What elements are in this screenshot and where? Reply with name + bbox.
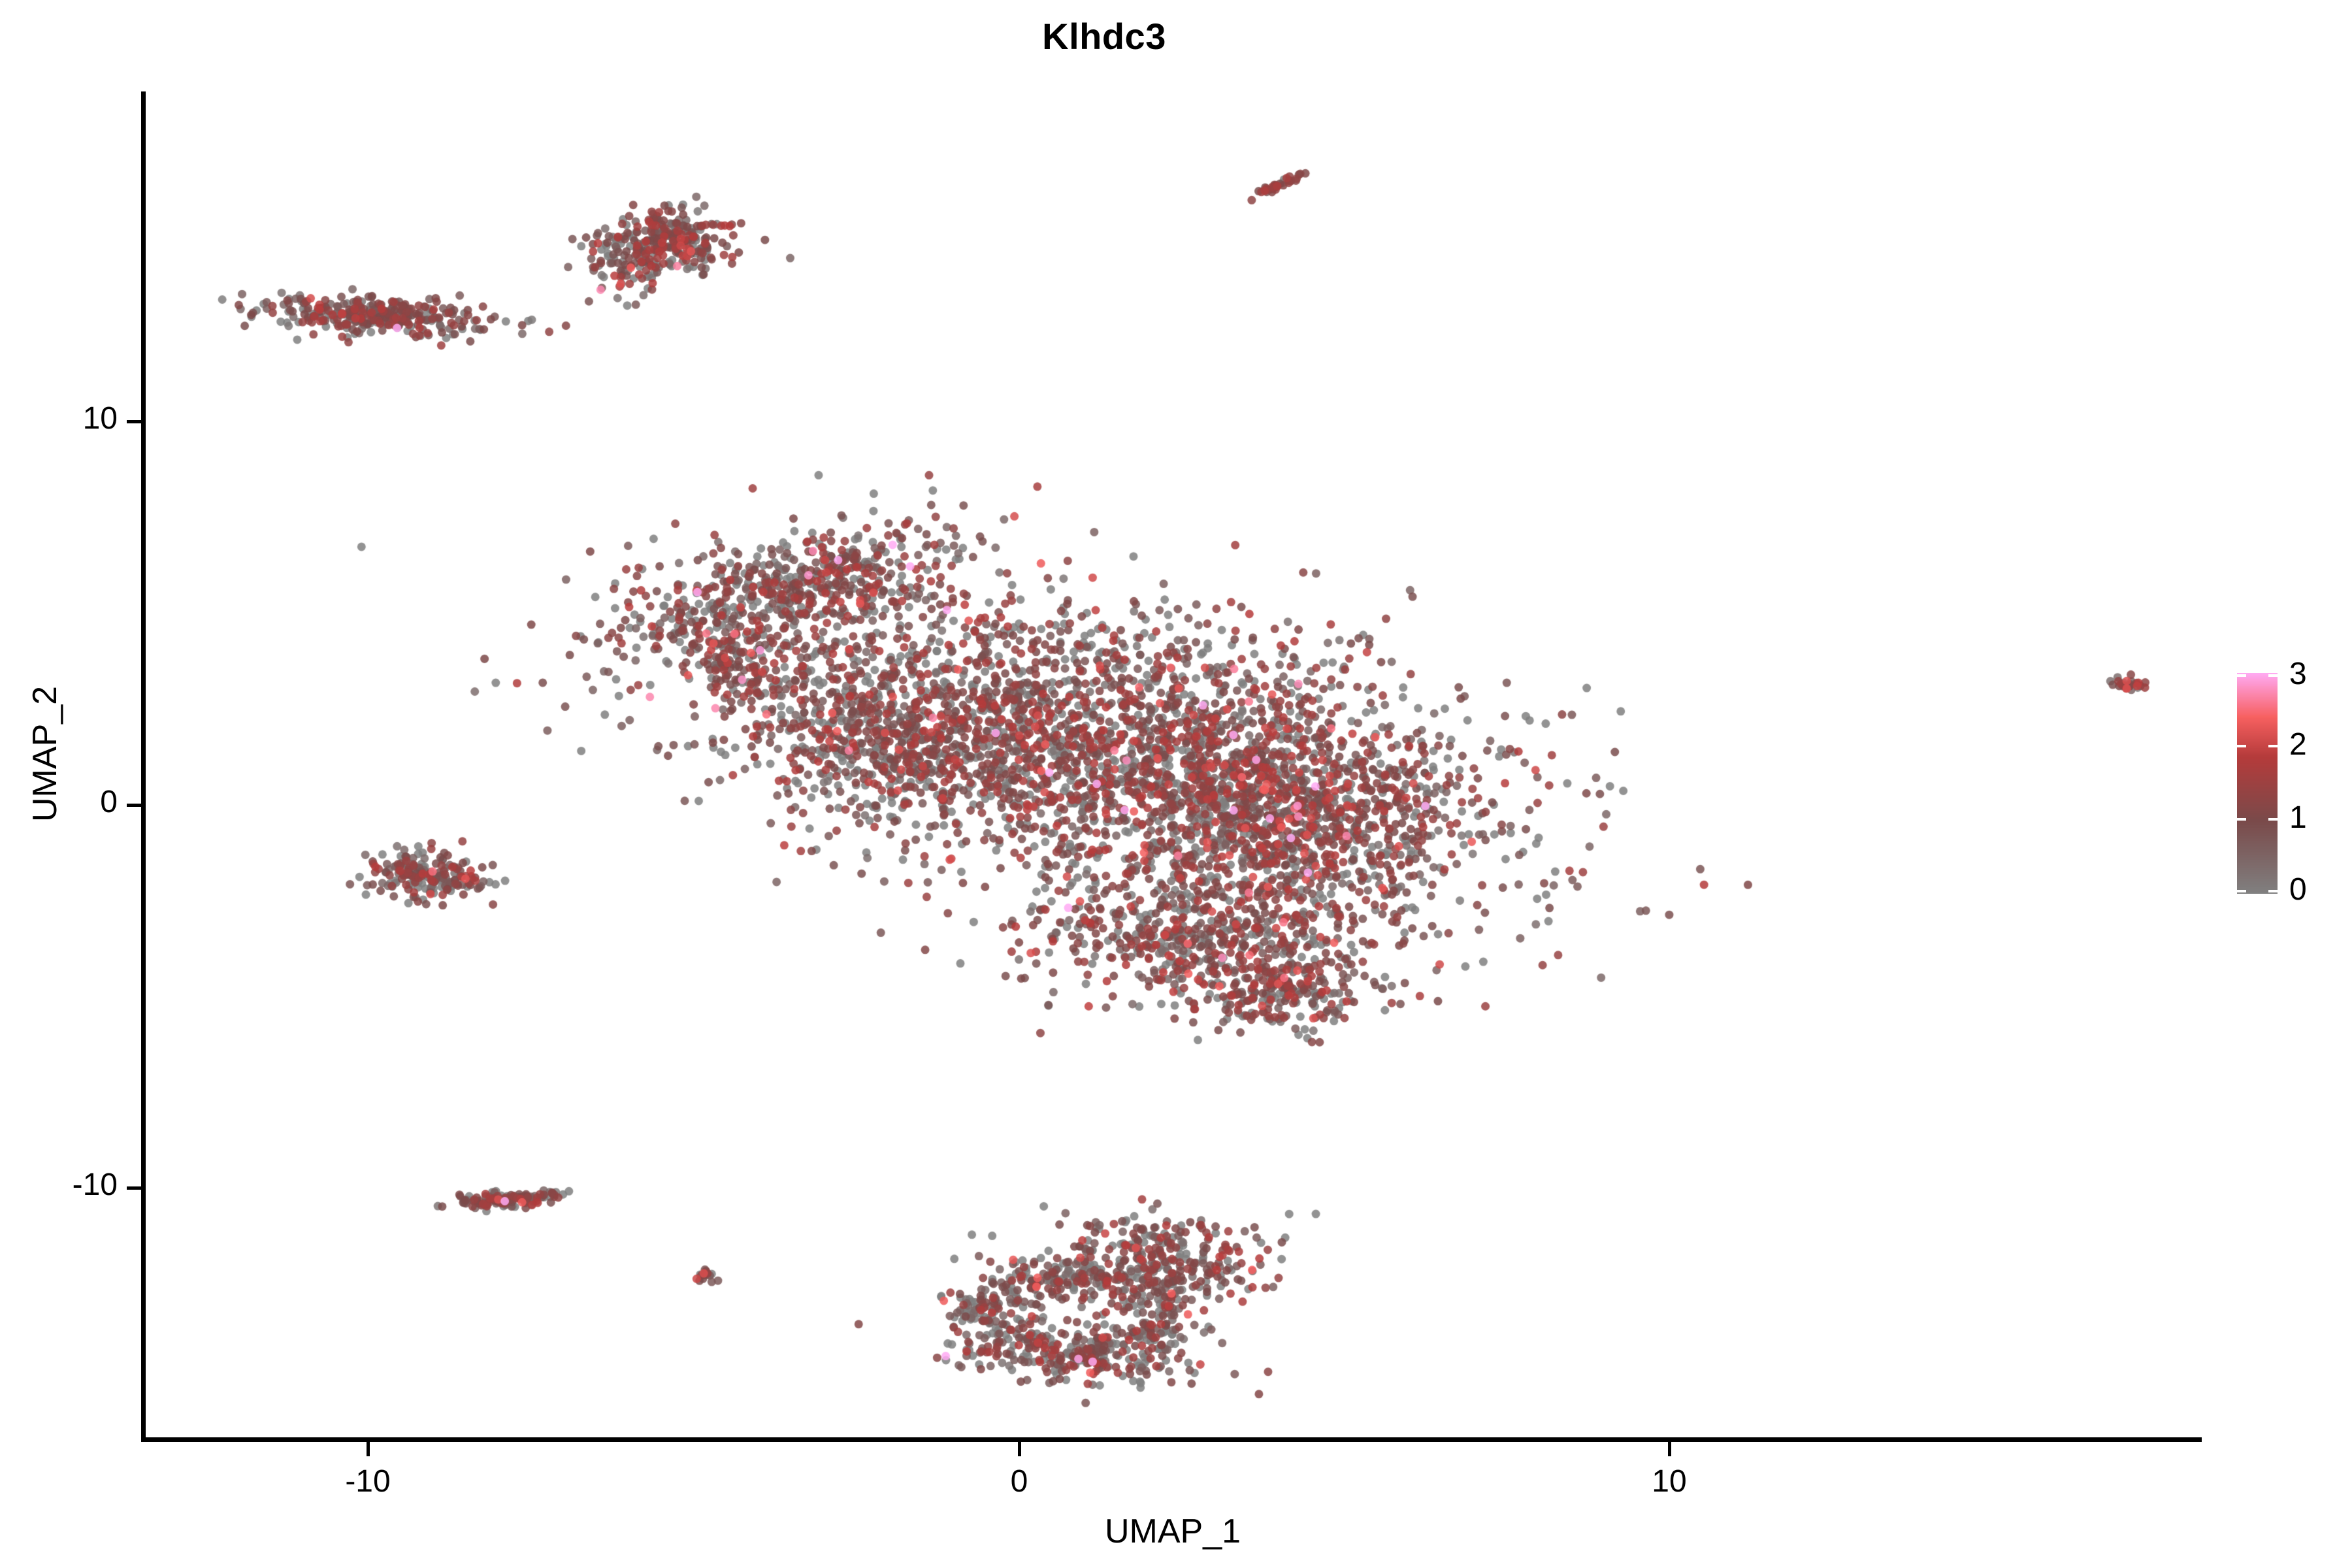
y-tick-mark-0 <box>127 804 141 807</box>
page-title: Klhdc3 <box>0 18 2208 55</box>
x-tick-mark-10 <box>1668 1442 1671 1456</box>
scatter-plot-canvas <box>144 91 2202 1439</box>
colorbar-tick-0-left <box>2237 890 2246 892</box>
x-tick-mark-0 <box>1018 1442 1021 1456</box>
colorbar-label-0: 0 <box>2289 874 2307 906</box>
colorbar-tick-2-left <box>2237 745 2246 747</box>
colorbar-tick-0-right <box>2268 890 2278 892</box>
y-axis-line <box>141 91 146 1442</box>
x-tick-label-10: 10 <box>1597 1466 1741 1497</box>
y-axis-title: UMAP_2 <box>28 395 62 1113</box>
colorbar-tick-1-right <box>2268 818 2278 821</box>
colorbar-label-3: 3 <box>2289 659 2307 690</box>
colorbar-tick-1-left <box>2237 818 2246 821</box>
y-tick-label-0: 0 <box>100 787 118 818</box>
x-axis-line <box>141 1437 2202 1442</box>
y-tick-label-10: 10 <box>83 403 118 434</box>
colorbar-legend: 3 2 1 0 <box>2237 673 2342 895</box>
x-tick-label--10: -10 <box>296 1466 440 1497</box>
plot-page: Klhdc3 10 0 -10 -10 0 10 UMAP_1 UMAP_2 3… <box>0 0 2352 1568</box>
x-axis-title: UMAP_1 <box>144 1514 2202 1548</box>
x-tick-label-0: 0 <box>947 1466 1091 1497</box>
y-tick-label--10: -10 <box>73 1169 118 1201</box>
plot-panel <box>144 91 2202 1439</box>
colorbar-gradient <box>2237 673 2278 894</box>
y-tick-mark--10 <box>127 1186 141 1190</box>
colorbar-label-1: 1 <box>2289 802 2307 834</box>
colorbar-tick-2-right <box>2268 745 2278 747</box>
x-tick-mark--10 <box>367 1442 370 1456</box>
colorbar-label-2: 2 <box>2289 729 2307 760</box>
colorbar-tick-3-right <box>2268 674 2278 677</box>
colorbar-tick-3-left <box>2237 674 2246 677</box>
y-tick-mark-10 <box>127 420 141 423</box>
